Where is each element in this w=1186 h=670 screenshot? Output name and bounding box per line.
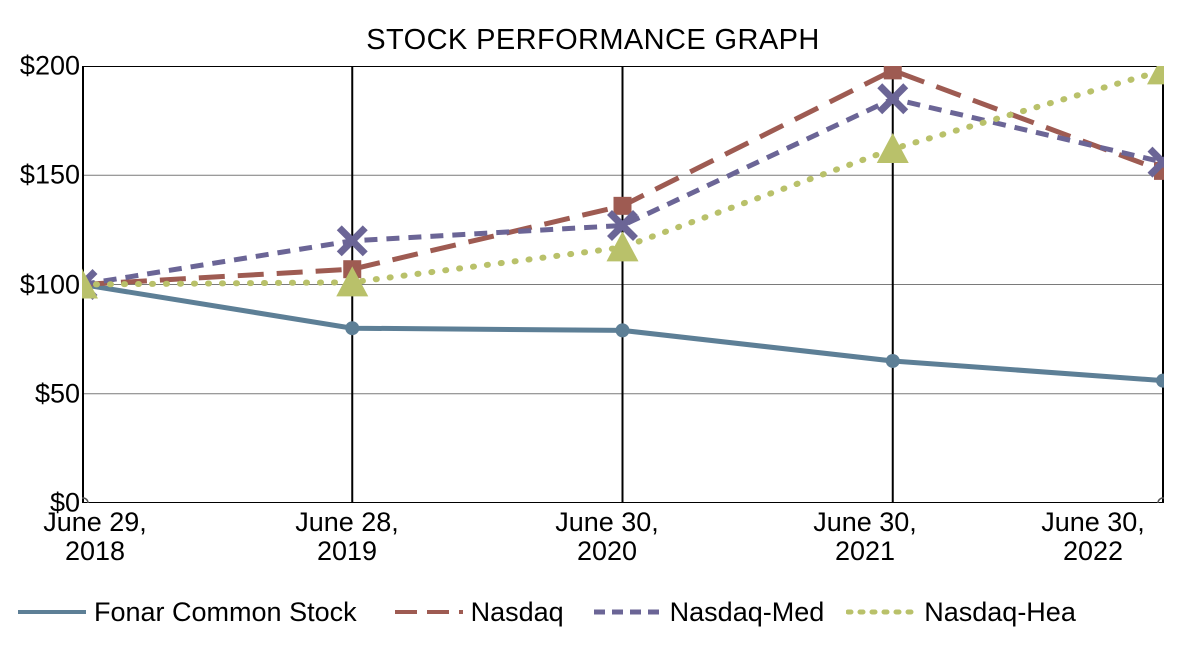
legend-swatch-nasdaq-med bbox=[592, 604, 664, 620]
legend-swatch-fonar bbox=[16, 604, 88, 620]
legend-label-nasdaq: Nasdaq bbox=[471, 599, 564, 626]
legend-swatch-nasdaq-hea bbox=[846, 604, 918, 620]
data-point bbox=[345, 321, 359, 335]
legend-label-nasdaq-med: Nasdaq-Med bbox=[670, 599, 825, 626]
legend-item-nasdaq[interactable]: Nasdaq bbox=[393, 599, 564, 626]
x-tick-label-2018: June 29, 2018 bbox=[0, 508, 190, 566]
stock-performance-chart: STOCK PERFORMANCE GRAPH $200 $150 $100 $… bbox=[0, 0, 1186, 670]
x-tick-label-2022: June 30, 2022 bbox=[1000, 508, 1186, 566]
data-point bbox=[886, 354, 900, 368]
data-point bbox=[1147, 66, 1164, 84]
data-point bbox=[616, 323, 630, 337]
legend-item-nasdaq-hea[interactable]: Nasdaq-Hea bbox=[846, 599, 1076, 626]
legend: Fonar Common Stock Nasdaq Nasdaq-Med bbox=[0, 592, 1186, 632]
data-point bbox=[884, 66, 902, 79]
x-tick-label-2020: June 30, 2020 bbox=[512, 508, 702, 566]
x-tick-label-2021: June 30, 2021 bbox=[770, 508, 960, 566]
legend-label-fonar: Fonar Common Stock bbox=[94, 599, 357, 626]
x-tick-label-2019: June 28, 2019 bbox=[252, 508, 442, 566]
data-point bbox=[1156, 374, 1164, 388]
legend-item-nasdaq-med[interactable]: Nasdaq-Med bbox=[592, 599, 825, 626]
plot-area bbox=[82, 66, 1164, 503]
legend-swatch-nasdaq bbox=[393, 604, 465, 620]
legend-label-nasdaq-hea: Nasdaq-Hea bbox=[924, 599, 1076, 626]
plot-svg bbox=[82, 66, 1164, 503]
legend-item-fonar[interactable]: Fonar Common Stock bbox=[16, 599, 357, 626]
data-point bbox=[614, 197, 632, 215]
